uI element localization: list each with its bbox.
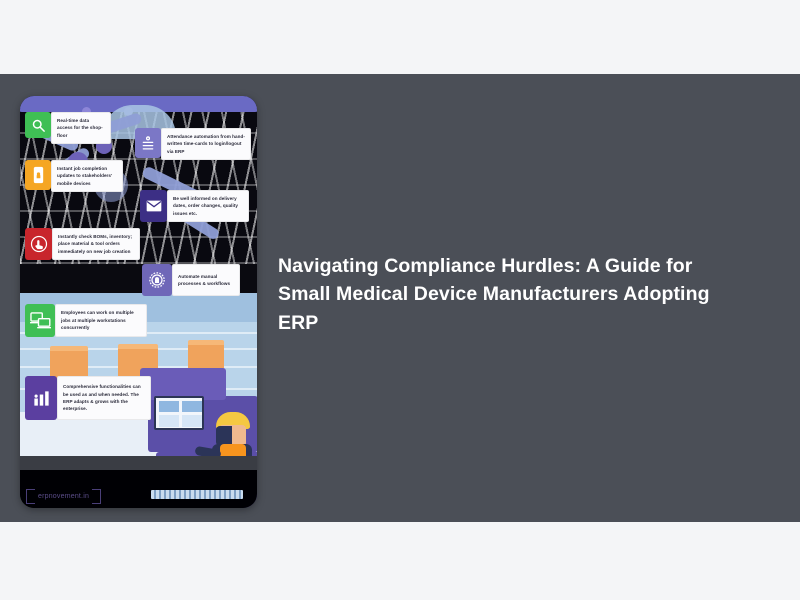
callout-item: Employees can work on multiple jobs at m… bbox=[25, 304, 147, 337]
callout-item: Attendance automation from hand-written … bbox=[135, 128, 251, 160]
envelope-icon bbox=[140, 190, 167, 222]
callout-item: Instant job completion updates to stakeh… bbox=[25, 160, 123, 192]
gear-icon bbox=[142, 264, 172, 296]
callout-text: Instant job completion updates to stakeh… bbox=[51, 160, 123, 192]
timecard-icon bbox=[135, 128, 161, 158]
tap-touch-icon bbox=[25, 228, 52, 260]
watermark-text: erpnovement.in bbox=[38, 493, 89, 500]
monitor-screen bbox=[154, 396, 204, 430]
bar-chart-icon bbox=[25, 376, 57, 420]
mobile-phone-icon bbox=[25, 160, 51, 190]
callout-item: Instantly check BOMs, inventory; place m… bbox=[25, 228, 140, 260]
infographic-image: Real-time data access for the shop-floor… bbox=[20, 96, 257, 508]
magnifier-icon bbox=[25, 112, 51, 138]
callout-text: Comprehensive functionalities can be use… bbox=[57, 376, 151, 420]
callout-text: Real-time data access for the shop-floor bbox=[51, 112, 111, 144]
article-headline[interactable]: Navigating Compliance Hurdles: A Guide f… bbox=[278, 252, 748, 337]
callout-item: Real-time data access for the shop-floor bbox=[25, 112, 111, 144]
callout-item: Automate manual processes & workflows bbox=[142, 264, 240, 296]
crate-box bbox=[50, 346, 88, 380]
callout-text: Attendance automation from hand-written … bbox=[161, 128, 251, 160]
page-root: Real-time data access for the shop-floor… bbox=[0, 0, 800, 600]
workstations-icon bbox=[25, 304, 55, 337]
callout-text: Automate manual processes & workflows bbox=[172, 264, 240, 296]
crate-box bbox=[188, 340, 224, 370]
article-thumbnail-card[interactable]: Real-time data access for the shop-floor… bbox=[20, 96, 257, 508]
callout-text: Employees can work on multiple jobs at m… bbox=[55, 304, 147, 337]
infographic-footer-divider bbox=[20, 456, 257, 470]
callout-text: Instantly check BOMs, inventory; place m… bbox=[52, 228, 140, 260]
worker-hair bbox=[216, 426, 232, 446]
callout-item: Comprehensive functionalities can be use… bbox=[25, 376, 151, 420]
footer-strip-decoration bbox=[151, 490, 243, 499]
callout-text: Be well informed on delivery dates, orde… bbox=[167, 190, 249, 222]
infographic-footer: erpnovement.in bbox=[20, 470, 257, 508]
callout-item: Be well informed on delivery dates, orde… bbox=[140, 190, 249, 222]
